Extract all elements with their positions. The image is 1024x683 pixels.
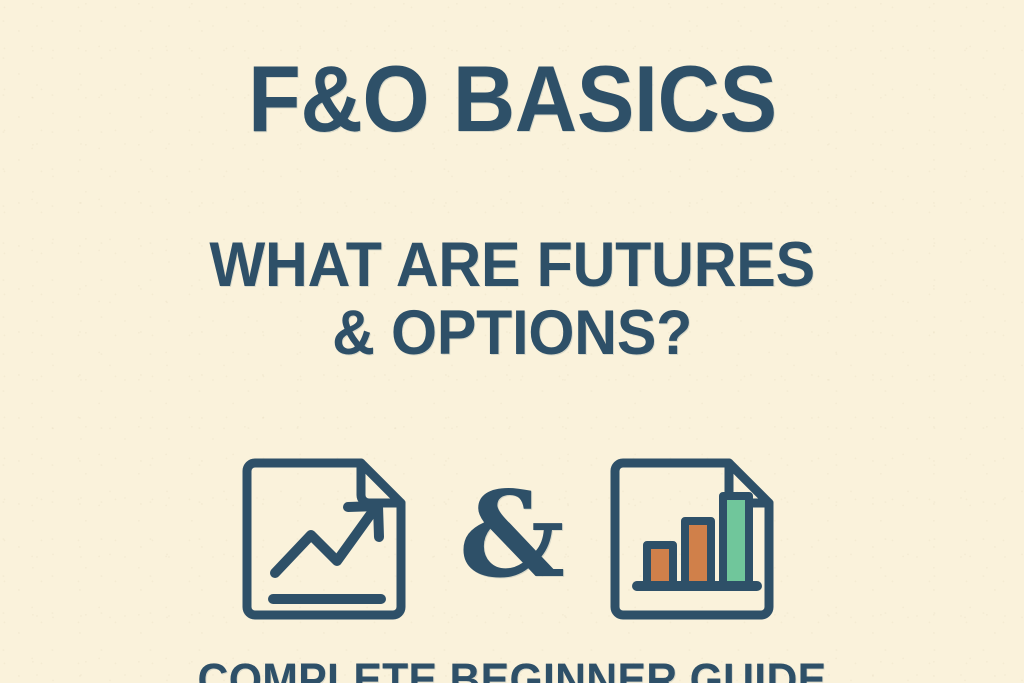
page-subtitle: WHAT ARE FUTURES & OPTIONS? <box>209 231 815 367</box>
icon-row: & <box>0 449 1024 621</box>
subtitle-line-2: & OPTIONS? <box>209 299 815 367</box>
poster-content-stack: F&O BASICS WHAT ARE FUTURES & OPTIONS? <box>0 0 1024 683</box>
subtitle-line-1: WHAT ARE FUTURES <box>209 231 815 299</box>
bar-chart-bar-3 <box>723 496 749 585</box>
ampersand-symbol: & <box>417 476 607 594</box>
document-trend-up-icon <box>239 449 417 621</box>
document-bar-chart-icon <box>607 449 785 621</box>
bar-chart-bar-2 <box>685 521 711 585</box>
poster-canvas: F&O BASICS WHAT ARE FUTURES & OPTIONS? <box>0 0 1024 683</box>
trend-zigzag-line <box>275 511 373 573</box>
bar-chart-bar-1 <box>647 545 673 585</box>
page-title: F&O BASICS <box>248 52 777 146</box>
footer-tagline: COMPLETE BEGINNER GUIDE <box>198 657 827 683</box>
